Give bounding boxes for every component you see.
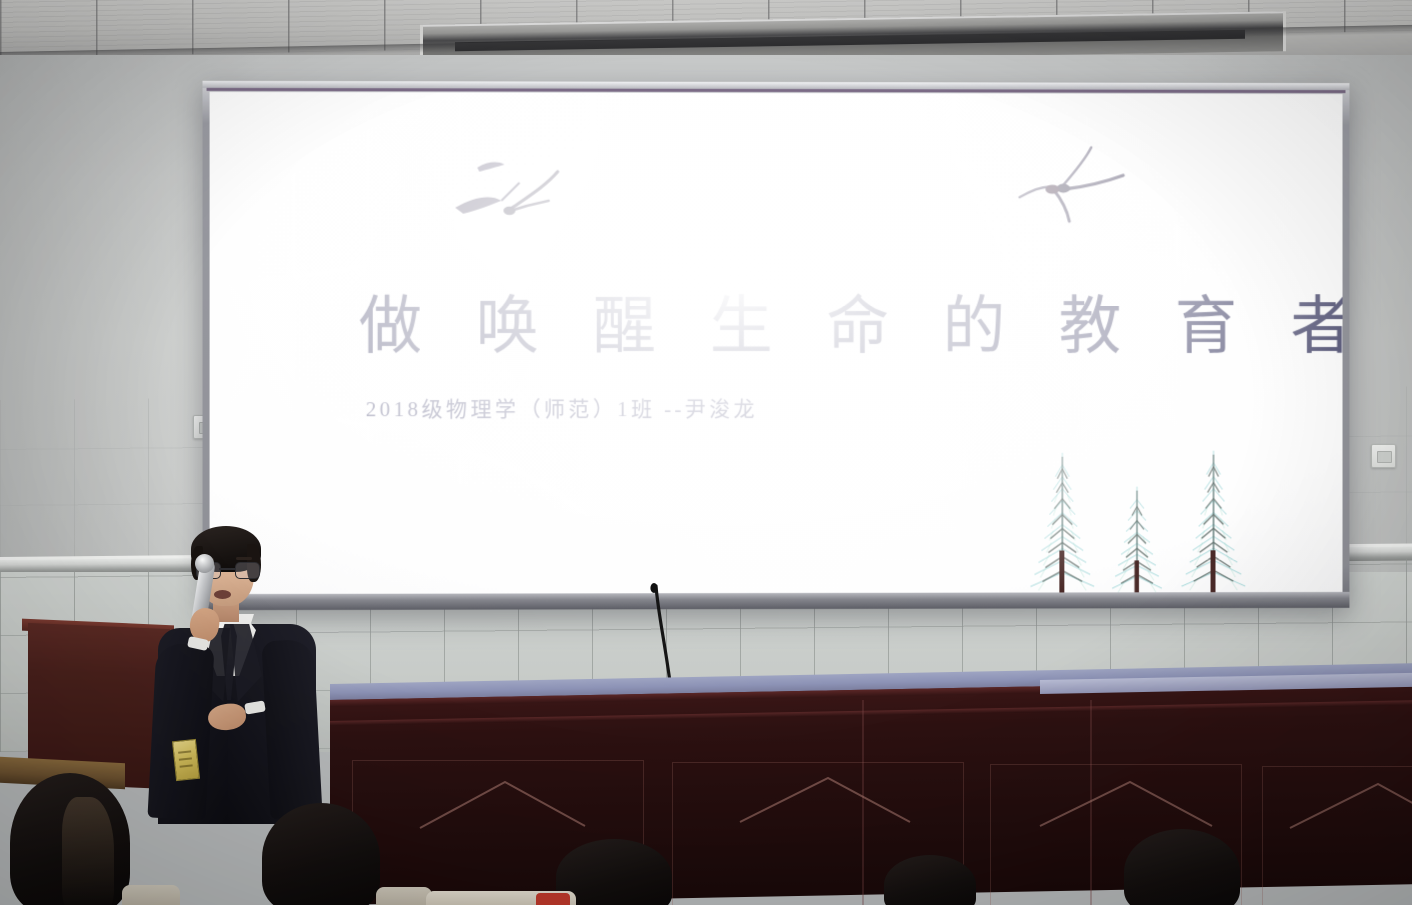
wall-outlet-right[interactable] [1371, 444, 1396, 468]
audience-head [884, 855, 976, 905]
glasses-bridge [219, 568, 235, 570]
audience-head [262, 803, 380, 905]
audience-hair-highlight [62, 797, 114, 905]
seated-audience [0, 745, 1412, 905]
audience-chair-back [122, 885, 180, 905]
flying-birds-right [1002, 141, 1136, 226]
eyebrow-right [236, 557, 252, 560]
lecture-hall-scene: 做 唤 醒 生 命 的 教 育 者 2018级物理学（师范）1班 --尹浚龙 [0, 0, 1412, 905]
three-bare-trees [1017, 441, 1256, 594]
screen-frame-bottom [203, 592, 1350, 610]
projection-screen-surface: 做 唤 醒 生 命 的 教 育 者 2018级物理学（师范）1班 --尹浚龙 [210, 92, 1343, 594]
red-object-on-desk [536, 893, 570, 905]
flying-birds-left [449, 148, 569, 223]
lens-right [235, 562, 260, 579]
audience-head [1124, 829, 1240, 905]
slide-subtitle: 2018级物理学（师范）1班 --尹浚龙 [366, 393, 758, 423]
slide-title: 做 唤 醒 生 命 的 教 育 者 [359, 295, 1249, 358]
audience-chair-back [376, 887, 432, 905]
tree-right [1168, 441, 1259, 594]
tree-left [1017, 441, 1109, 594]
projection-screen-frame: 做 唤 醒 生 命 的 教 育 者 2018级物理学（师范）1班 --尹浚龙 [203, 81, 1350, 610]
mouth [214, 590, 231, 599]
tree-middle [1100, 477, 1174, 594]
gooseneck-microphone [648, 586, 738, 686]
